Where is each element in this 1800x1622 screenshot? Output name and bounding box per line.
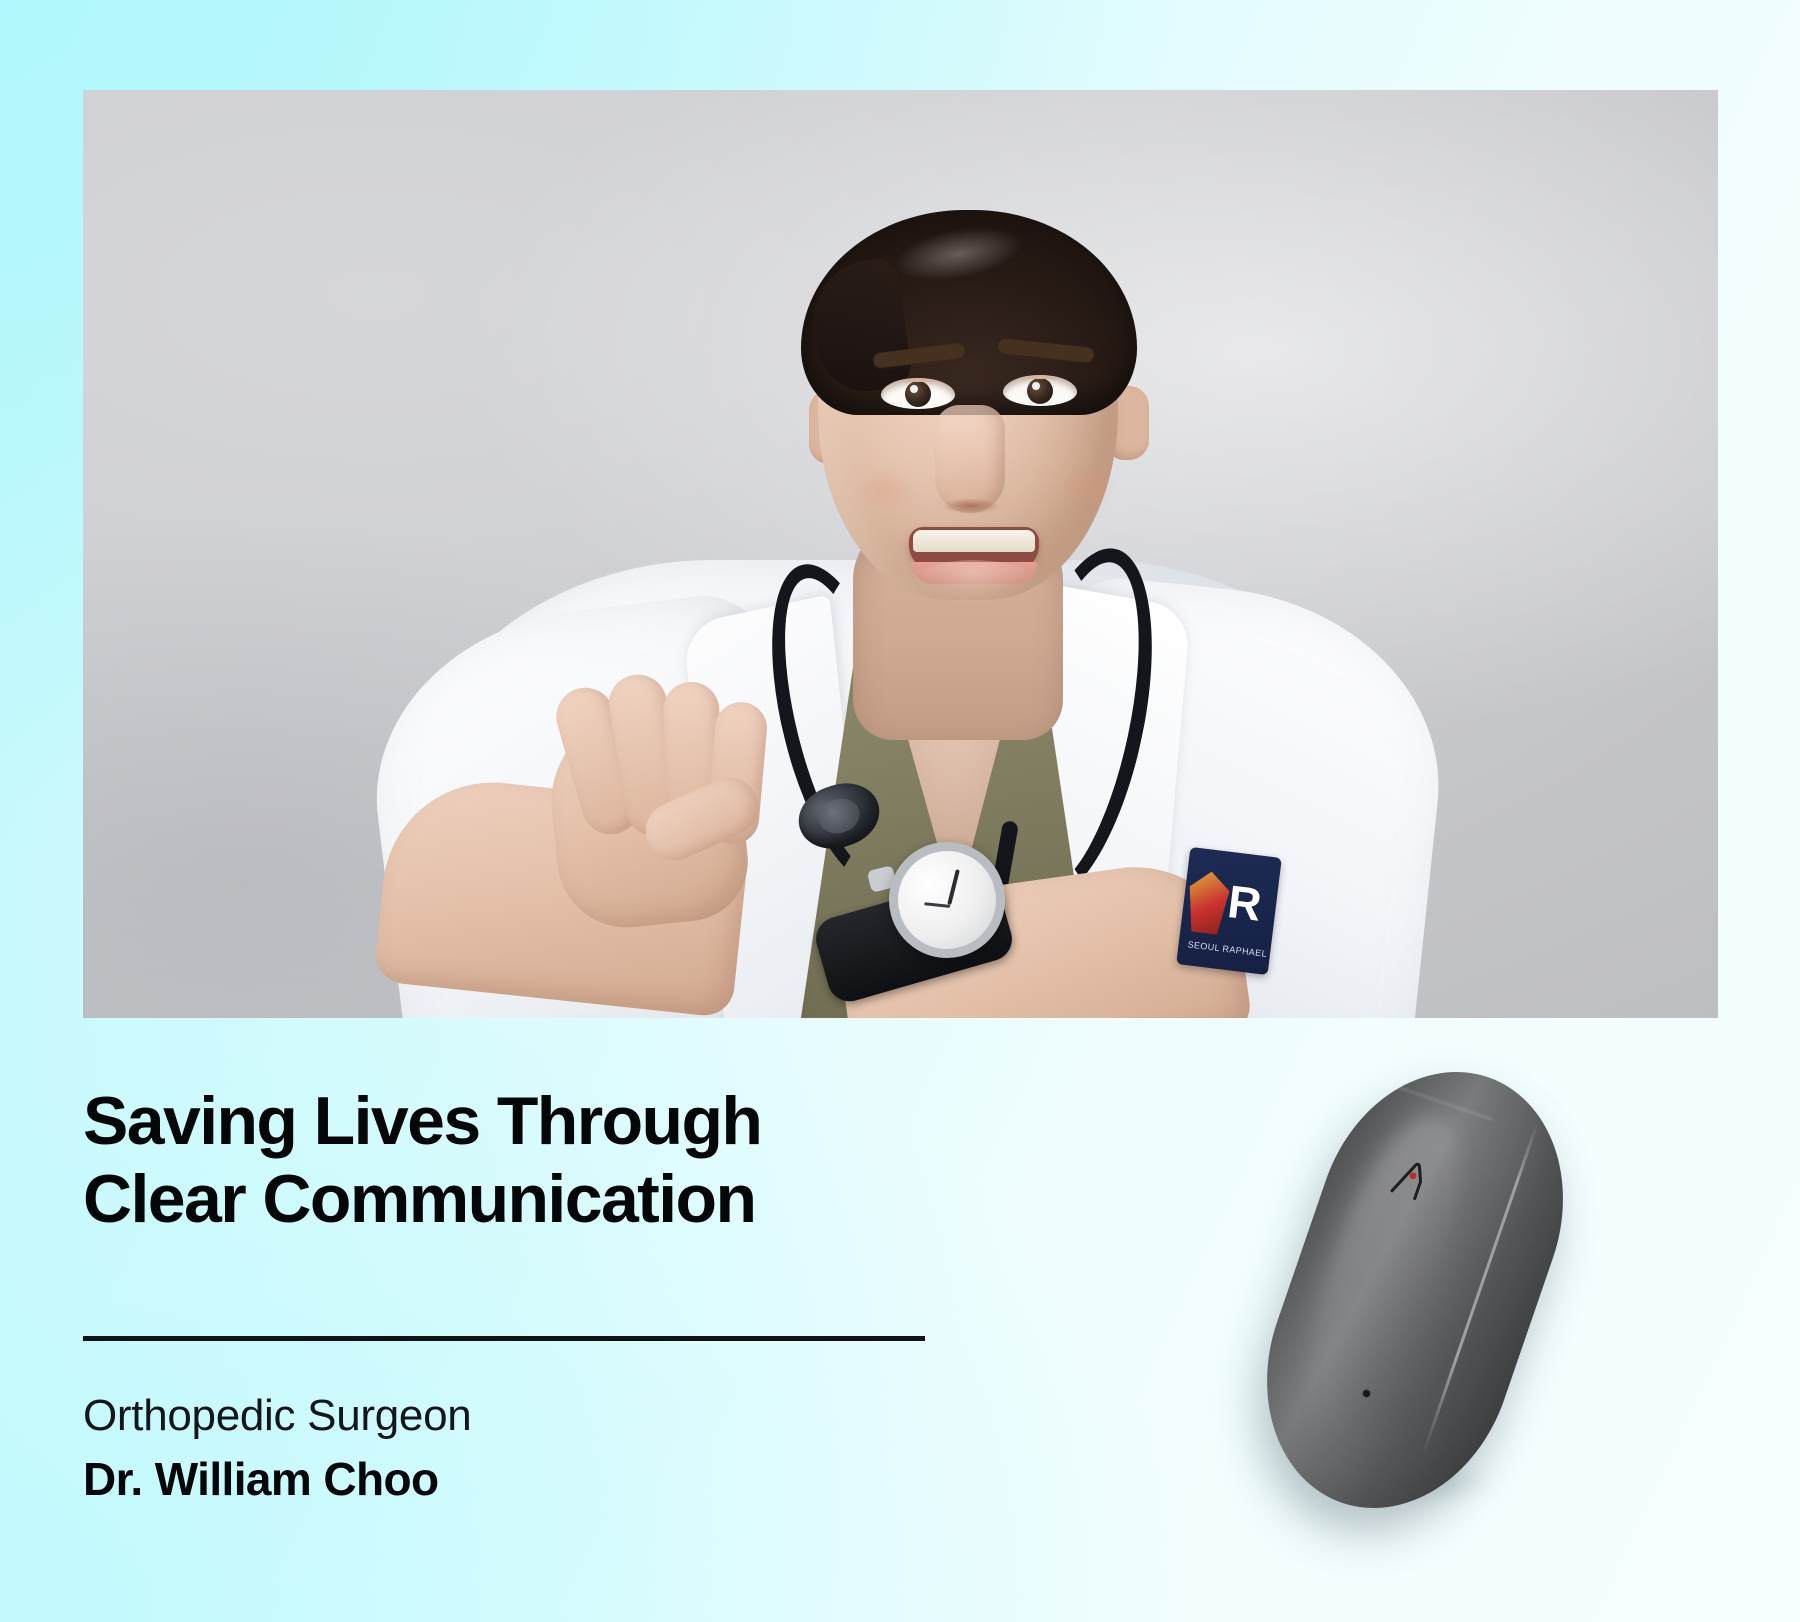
badge-org-text: SEOUL RAPHAEL xyxy=(1184,939,1271,959)
hospital-id-badge: R SEOUL RAPHAEL xyxy=(1176,847,1282,975)
iris-left xyxy=(905,381,931,407)
chin xyxy=(903,560,1043,620)
earbud-case-product-image xyxy=(1265,1055,1565,1525)
cheek-right xyxy=(1043,456,1129,516)
doctor-name: Dr. William Choo xyxy=(83,1452,438,1506)
page-title: Saving Lives Through Clear Communication xyxy=(83,1083,1043,1238)
eyelid-left xyxy=(881,378,955,382)
role-label: Orthopedic Surgeon xyxy=(83,1391,471,1441)
nostrils xyxy=(931,495,1011,517)
promo-card: R SEOUL RAPHAEL Saving Lives Through Cle… xyxy=(0,0,1800,1622)
teeth xyxy=(913,530,1035,552)
mic-pinhole-icon xyxy=(1363,1390,1370,1397)
eye-right xyxy=(1003,375,1077,406)
divider xyxy=(83,1336,925,1341)
headline-line-2: Clear Communication xyxy=(83,1161,755,1237)
iris-right xyxy=(1027,378,1053,404)
doctor-figure: R SEOUL RAPHAEL xyxy=(83,90,1718,1018)
cheek-left xyxy=(843,460,929,520)
headline-line-1: Saving Lives Through xyxy=(83,1083,761,1159)
doctor-photo: R SEOUL RAPHAEL xyxy=(83,90,1718,1018)
eyelid-right xyxy=(1003,375,1077,379)
badge-letter: R xyxy=(1225,878,1264,928)
eye-left xyxy=(881,378,955,409)
